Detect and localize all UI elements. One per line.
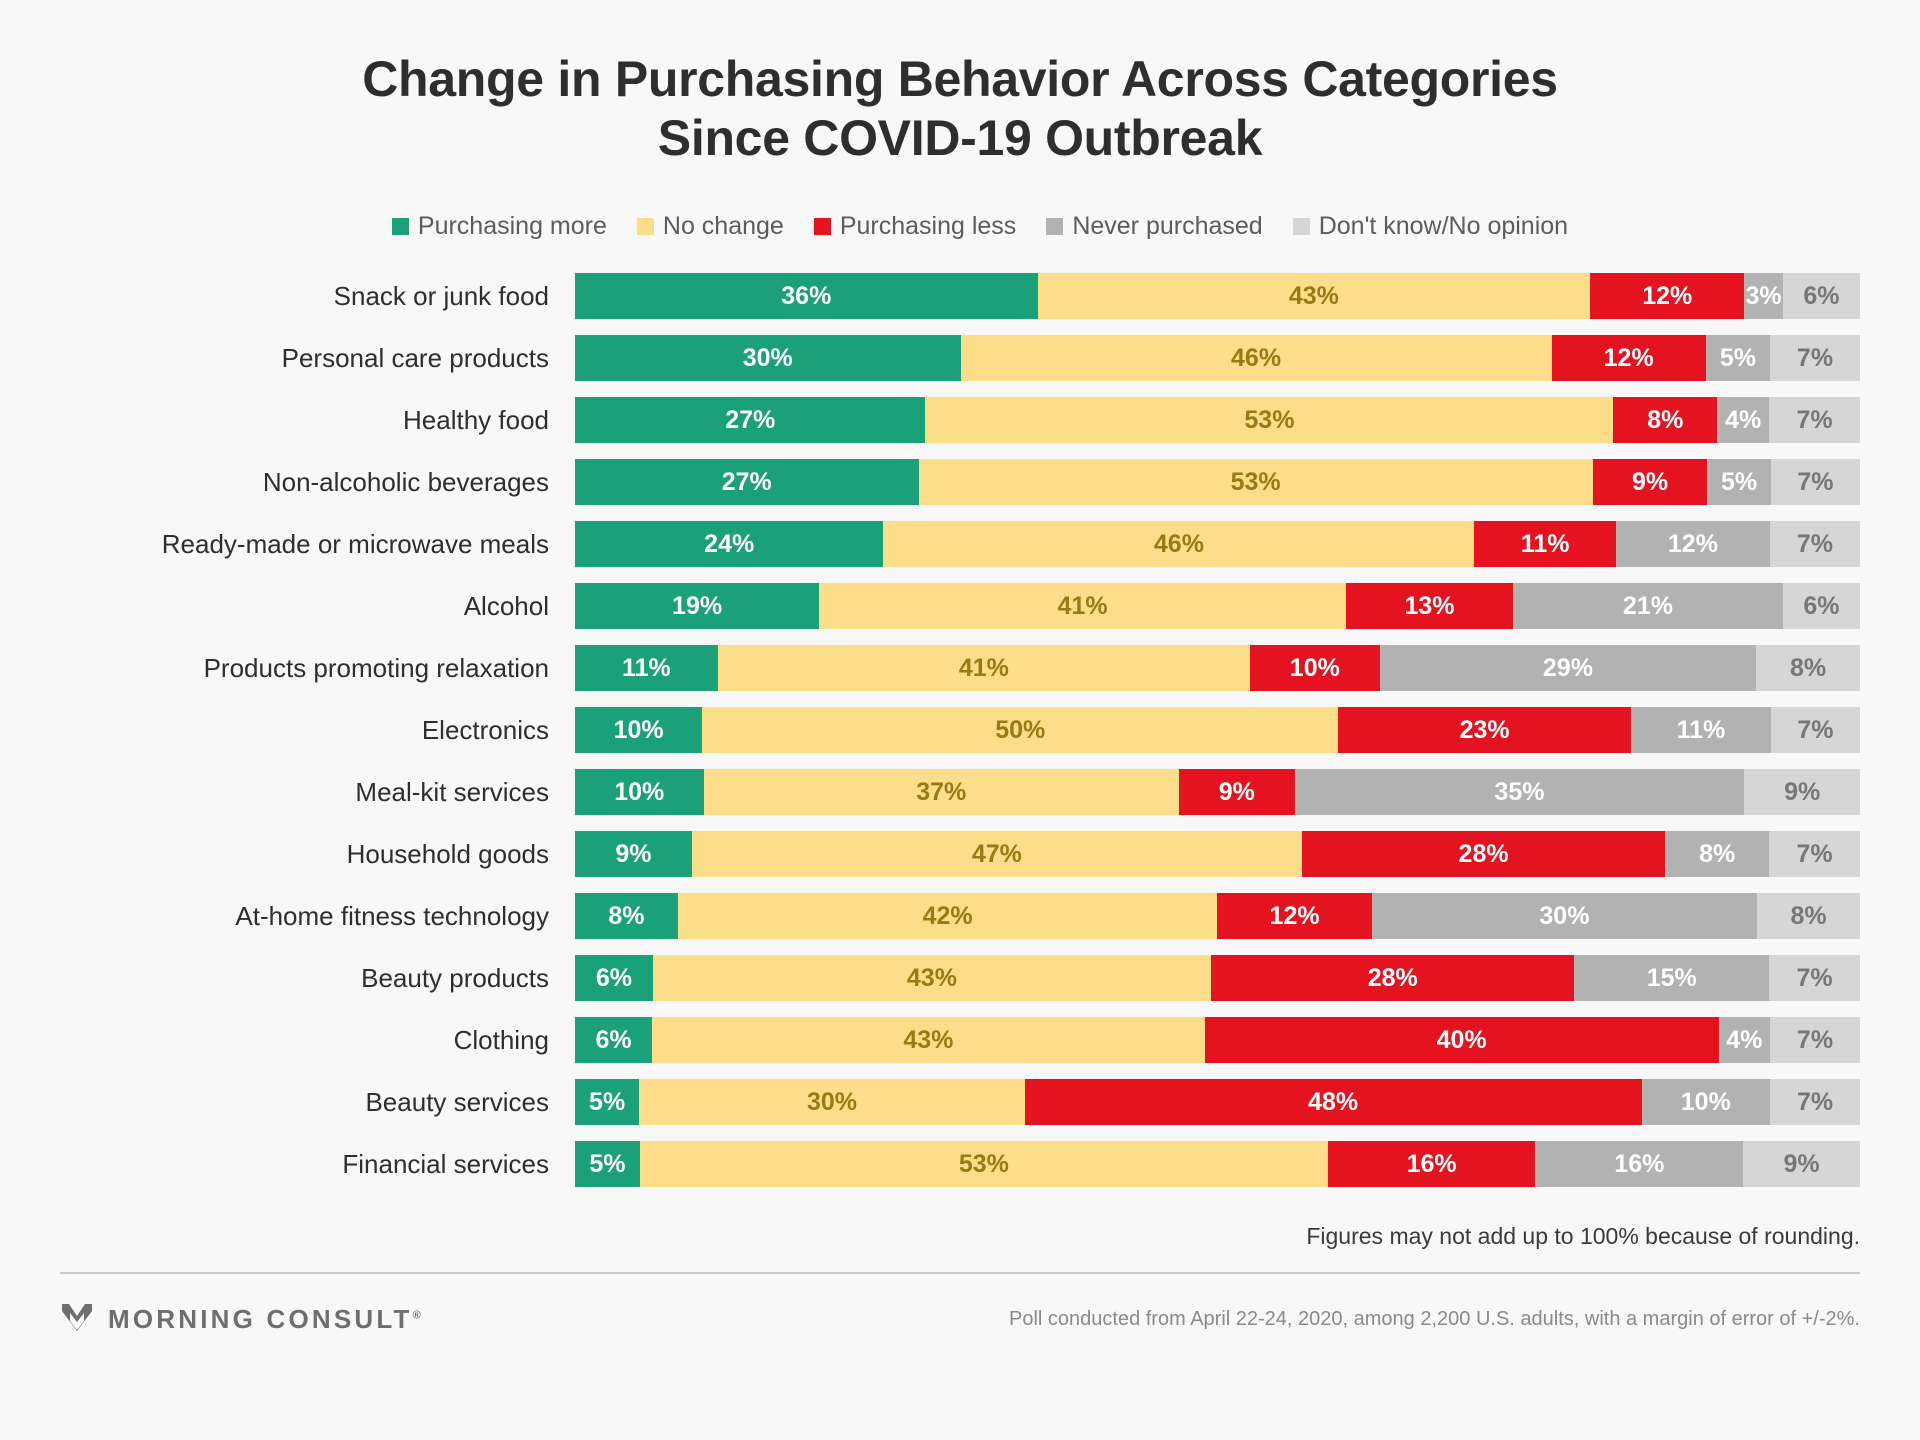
stacked-bar: 6%43%40%4%7% [575,1017,1860,1063]
bar-segment-same: 42% [678,893,1218,939]
bar-segment-never: 5% [1706,335,1770,381]
bar-segment-less: 12% [1590,273,1744,319]
legend-swatch-more-icon [392,218,409,235]
legend-item-more: Purchasing more [392,212,607,241]
legend-item-dk: Don't know/No opinion [1293,212,1568,241]
chart-row: Meal-kit services10%37%9%35%9% [60,767,1860,817]
brand-trademark: ® [413,1309,421,1321]
bar-segment-dk: 7% [1770,521,1860,567]
bar-segment-dk: 6% [1783,273,1860,319]
bar-segment-same: 41% [819,583,1346,629]
bar-segment-less: 28% [1302,831,1665,877]
chart-row: Products promoting relaxation11%41%10%29… [60,643,1860,693]
bar-segment-less: 28% [1211,955,1574,1001]
bar-segment-same: 53% [640,1141,1328,1187]
bar-segment-dk: 9% [1743,1141,1860,1187]
category-label: Products promoting relaxation [60,653,575,684]
chart-row: Ready-made or microwave meals24%46%11%12… [60,519,1860,569]
morning-consult-chevron-icon [60,1300,94,1339]
source-note: Poll conducted from April 22-24, 2020, a… [1009,1308,1860,1331]
chart-legend: Purchasing moreNo changePurchasing lessN… [0,212,1920,241]
bar-segment-more: 30% [575,335,961,381]
chart-row: Snack or junk food36%43%12%3%6% [60,271,1860,321]
category-label: Healthy food [60,405,575,436]
chart-plot-area: Snack or junk food36%43%12%3%6%Personal … [0,271,1920,1189]
bar-segment-same: 46% [883,521,1474,567]
bar-segment-less: 9% [1593,459,1708,505]
legend-item-never: Never purchased [1046,212,1262,241]
stacked-bar: 36%43%12%3%6% [575,273,1860,319]
stacked-bar: 6%43%28%15%7% [575,955,1860,1001]
bar-segment-never: 12% [1616,521,1770,567]
stacked-bar: 24%46%11%12%7% [575,521,1860,567]
bar-segment-more: 5% [575,1141,640,1187]
category-label: Non-alcoholic beverages [60,467,575,498]
bar-segment-same: 43% [653,955,1211,1001]
bar-segment-dk: 8% [1756,645,1860,691]
bar-segment-never: 8% [1665,831,1769,877]
bar-segment-never: 3% [1744,273,1783,319]
bar-segment-less: 12% [1217,893,1371,939]
bar-segment-less: 16% [1328,1141,1536,1187]
legend-item-same: No change [637,212,784,241]
chart-row: At-home fitness technology8%42%12%30%8% [60,891,1860,941]
legend-swatch-dk-icon [1293,218,1310,235]
bar-segment-dk: 7% [1769,955,1860,1001]
bar-segment-never: 35% [1295,769,1745,815]
category-label: Financial services [60,1149,575,1180]
title-container: Change in Purchasing Behavior Across Cat… [0,0,1920,168]
footer-divider [60,1272,1860,1274]
bar-segment-more: 27% [575,397,925,443]
stacked-bar: 30%46%12%5%7% [575,335,1860,381]
stacked-bar: 10%37%9%35%9% [575,769,1860,815]
bar-segment-more: 27% [575,459,919,505]
bar-segment-less: 13% [1346,583,1513,629]
chart-row: Clothing6%43%40%4%7% [60,1015,1860,1065]
bar-segment-same: 50% [702,707,1338,753]
bar-segment-never: 10% [1642,1079,1771,1125]
bar-segment-more: 19% [575,583,819,629]
bar-segment-dk: 8% [1757,893,1860,939]
legend-label-less: Purchasing less [840,212,1016,241]
stacked-bar: 27%53%8%4%7% [575,397,1860,443]
category-label: Personal care products [60,343,575,374]
bar-segment-dk: 7% [1770,1017,1860,1063]
bar-segment-never: 4% [1717,397,1769,443]
chart-row: Alcohol19%41%13%21%6% [60,581,1860,631]
legend-label-same: No change [663,212,784,241]
bar-segment-dk: 7% [1771,459,1860,505]
legend-label-dk: Don't know/No opinion [1319,212,1568,241]
bar-segment-more: 36% [575,273,1038,319]
stacked-bar: 27%53%9%5%7% [575,459,1860,505]
chart-row: Healthy food27%53%8%4%7% [60,395,1860,445]
page-footer: MORNING CONSULT® Poll conducted from Apr… [0,1300,1920,1339]
bar-segment-never: 4% [1719,1017,1770,1063]
bar-segment-less: 40% [1205,1017,1719,1063]
bar-segment-never: 21% [1513,583,1783,629]
bar-segment-never: 30% [1372,893,1758,939]
bar-segment-dk: 7% [1769,397,1860,443]
bar-segment-more: 10% [575,769,704,815]
bar-segment-less: 8% [1613,397,1717,443]
bar-segment-dk: 6% [1783,583,1860,629]
bar-segment-same: 46% [961,335,1552,381]
bar-segment-more: 5% [575,1079,639,1125]
category-label: Meal-kit services [60,777,575,808]
bar-segment-less: 23% [1338,707,1631,753]
legend-swatch-same-icon [637,218,654,235]
category-label: Beauty services [60,1087,575,1118]
legend-label-more: Purchasing more [418,212,607,241]
legend-item-less: Purchasing less [814,212,1016,241]
chart-row: Personal care products30%46%12%5%7% [60,333,1860,383]
rounding-footnote: Figures may not add up to 100% because o… [0,1223,1860,1250]
bar-segment-never: 15% [1574,955,1769,1001]
category-label: Beauty products [60,963,575,994]
chart-row: Electronics10%50%23%11%7% [60,705,1860,755]
category-label: Household goods [60,839,575,870]
bar-segment-same: 43% [1038,273,1591,319]
footnote-container: Figures may not add up to 100% because o… [0,1223,1920,1250]
bar-segment-dk: 7% [1770,335,1860,381]
bar-segment-dk: 7% [1771,707,1860,753]
stacked-bar: 19%41%13%21%6% [575,583,1860,629]
category-label: Snack or junk food [60,281,575,312]
bar-segment-more: 24% [575,521,883,567]
category-label: Ready-made or microwave meals [60,529,575,560]
bar-segment-more: 6% [575,1017,652,1063]
page-title: Change in Purchasing Behavior Across Cat… [360,50,1560,168]
chart-row: Financial services5%53%16%16%9% [60,1139,1860,1189]
legend-swatch-never-icon [1046,218,1063,235]
bar-segment-more: 9% [575,831,692,877]
bar-segment-never: 29% [1380,645,1756,691]
bar-segment-never: 11% [1631,707,1771,753]
bar-segment-less: 12% [1552,335,1706,381]
bar-segment-same: 41% [718,645,1250,691]
stacked-bar: 5%30%48%10%7% [575,1079,1860,1125]
brand-logo: MORNING CONSULT® [60,1300,421,1339]
bar-segment-same: 53% [925,397,1613,443]
stacked-bar: 10%50%23%11%7% [575,707,1860,753]
legend-swatch-less-icon [814,218,831,235]
category-label: Alcohol [60,591,575,622]
chart-row: Beauty services5%30%48%10%7% [60,1077,1860,1127]
bar-segment-same: 53% [919,459,1593,505]
bar-segment-more: 11% [575,645,718,691]
category-label: Clothing [60,1025,575,1056]
bar-segment-dk: 7% [1769,831,1860,877]
bar-segment-less: 11% [1474,521,1615,567]
bar-segment-dk: 7% [1770,1079,1860,1125]
bar-segment-never: 16% [1535,1141,1743,1187]
brand-name-text: MORNING CONSULT [108,1304,413,1334]
category-label: Electronics [60,715,575,746]
bar-segment-more: 8% [575,893,678,939]
bar-segment-less: 10% [1250,645,1380,691]
stacked-bar: 8%42%12%30%8% [575,893,1860,939]
bar-segment-same: 37% [704,769,1179,815]
bar-segment-same: 43% [652,1017,1205,1063]
chart-page: Change in Purchasing Behavior Across Cat… [0,0,1920,1440]
bar-segment-more: 10% [575,707,702,753]
bar-segment-less: 48% [1025,1079,1642,1125]
bar-segment-never: 5% [1707,459,1771,505]
bar-segment-same: 47% [692,831,1302,877]
chart-row: Non-alcoholic beverages27%53%9%5%7% [60,457,1860,507]
category-label: At-home fitness technology [60,901,575,932]
bar-segment-less: 9% [1179,769,1295,815]
chart-row: Household goods9%47%28%8%7% [60,829,1860,879]
stacked-bar: 5%53%16%16%9% [575,1141,1860,1187]
stacked-bar: 11%41%10%29%8% [575,645,1860,691]
bar-segment-more: 6% [575,955,653,1001]
chart-row: Beauty products6%43%28%15%7% [60,953,1860,1003]
stacked-bar: 9%47%28%8%7% [575,831,1860,877]
brand-name: MORNING CONSULT® [108,1304,421,1335]
bar-segment-dk: 9% [1744,769,1860,815]
legend-label-never: Never purchased [1072,212,1262,241]
bar-segment-same: 30% [639,1079,1025,1125]
